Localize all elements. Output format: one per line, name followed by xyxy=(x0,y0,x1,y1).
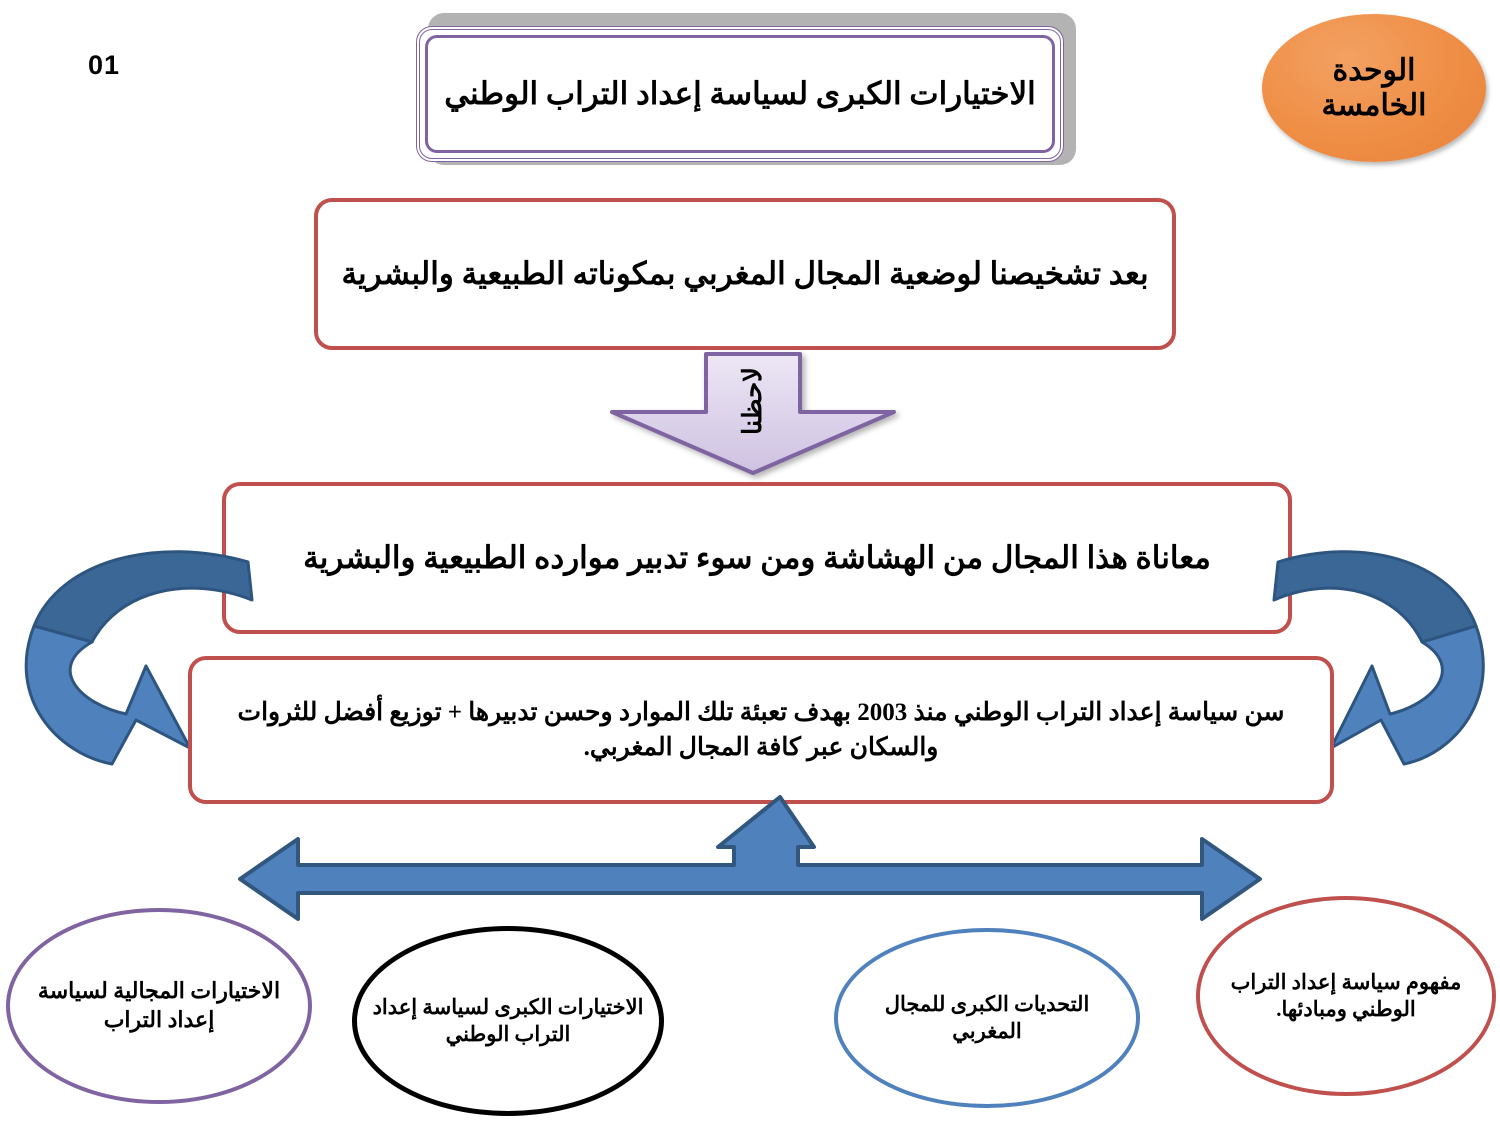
box-suffering-text: معاناة هذا المجال من الهشاشة ومن سوء تدب… xyxy=(283,538,1231,579)
unit-badge-line-1: الوحدة xyxy=(1322,53,1427,88)
unit-badge: الوحدة الخامسة xyxy=(1262,14,1486,162)
topic-ellipse-spatial-choices-label: الاختيارات المجالية لسياسة إعداد التراب xyxy=(10,977,308,1034)
topic-ellipse-major-challenges[interactable]: التحديات الكبرى للمجال المغربي xyxy=(834,928,1140,1108)
unit-badge-line-2: الخامسة xyxy=(1322,88,1427,123)
page-title: الاختيارات الكبرى لسياسة إعداد التراب ال… xyxy=(430,74,1050,114)
topic-ellipse-major-challenges-label: التحديات الكبرى للمجال المغربي xyxy=(838,991,1136,1046)
diagram-canvas: 01 الوحدة الخامسة الاختيارات الكبرى لسيا… xyxy=(0,0,1500,1125)
title-box: الاختيارات الكبرى لسياسة إعداد التراب ال… xyxy=(416,26,1064,162)
box-policy-text: سن سياسة إعداد التراب الوطني منذ 2003 به… xyxy=(192,695,1330,766)
box-diagnosis-text: بعد تشخيصنا لوضعية المجال المغربي بمكونا… xyxy=(321,254,1168,295)
title-box-inner-border: الاختيارات الكبرى لسياسة إعداد التراب ال… xyxy=(425,35,1055,153)
topic-ellipse-major-choices-label: الاختيارات الكبرى لسياسة إعداد التراب ال… xyxy=(357,994,659,1049)
topic-ellipse-policy-concept-label: مفهوم سياسة إعداد التراب الوطني ومبادئها… xyxy=(1200,969,1492,1024)
page-number: 01 xyxy=(88,50,120,81)
topic-ellipse-policy-concept[interactable]: مفهوم سياسة إعداد التراب الوطني ومبادئها… xyxy=(1196,896,1496,1096)
box-diagnosis: بعد تشخيصنا لوضعية المجال المغربي بمكونا… xyxy=(314,198,1176,350)
tri-directional-arrow-icon xyxy=(236,795,1264,923)
topic-ellipse-major-choices[interactable]: الاختيارات الكبرى لسياسة إعداد التراب ال… xyxy=(352,926,664,1116)
down-arrow: لاحظنا xyxy=(608,352,898,476)
box-suffering: معاناة هذا المجال من الهشاشة ومن سوء تدب… xyxy=(222,482,1292,634)
box-policy: سن سياسة إعداد التراب الوطني منذ 2003 به… xyxy=(188,656,1334,804)
unit-badge-text: الوحدة الخامسة xyxy=(1322,53,1427,124)
topic-ellipse-spatial-choices[interactable]: الاختيارات المجالية لسياسة إعداد التراب xyxy=(6,908,312,1104)
